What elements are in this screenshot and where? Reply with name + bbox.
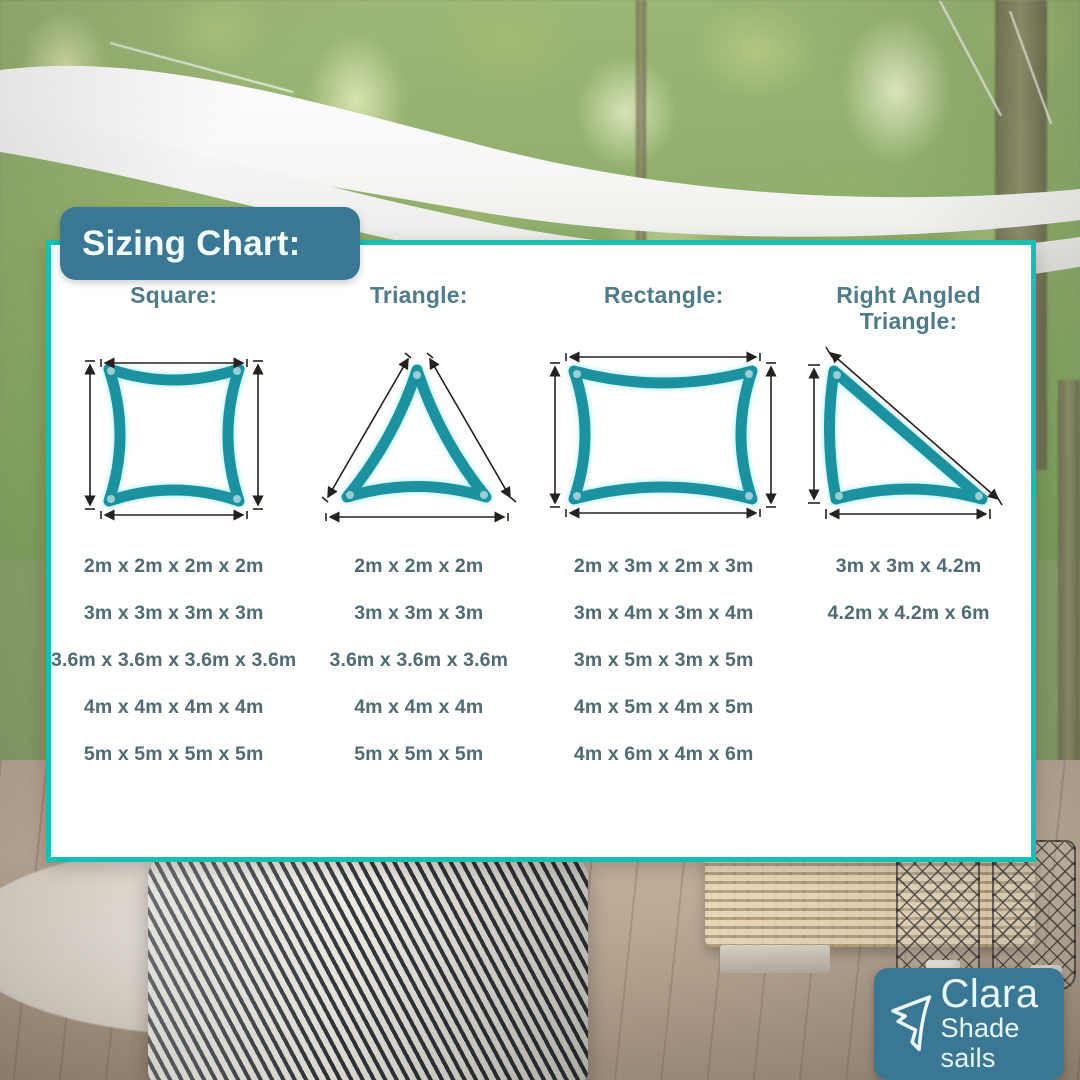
column-right-angled-triangle: Right Angled Triangle: [786, 283, 1031, 853]
size-item: 3m x 5m x 3m x 5m [574, 637, 753, 684]
size-item: 4.2m x 4.2m x 6m [828, 590, 990, 637]
size-item: 5m x 5m x 5m x 5m [84, 731, 263, 778]
triangle-sail-diagram [314, 345, 524, 525]
screenshot-root: Square: [0, 0, 1080, 1080]
sail-icon [886, 987, 937, 1061]
chart-columns: Square: [51, 283, 1031, 853]
size-item: 4m x 5m x 4m x 5m [574, 684, 753, 731]
column-rectangle: Rectangle: [541, 283, 786, 853]
size-item: 2m x 2m x 2m [354, 543, 483, 590]
column-heading-square: Square: [130, 283, 217, 341]
size-item: 3m x 3m x 3m x 3m [84, 590, 263, 637]
size-item: 3.6m x 3.6m x 3.6m [330, 637, 509, 684]
size-item: 2m x 2m x 2m x 2m [84, 543, 263, 590]
size-list-triangle: 2m x 2m x 2m 3m x 3m x 3m 3.6m x 3.6m x … [330, 543, 509, 778]
logo-line-1: Clara [941, 975, 1064, 1013]
page-title-badge: Sizing Chart: [60, 207, 360, 280]
page-title: Sizing Chart: [82, 224, 300, 264]
column-heading-rectangle: Rectangle: [604, 283, 724, 341]
size-list-right-angled-triangle: 3m x 3m x 4.2m 4.2m x 4.2m x 6m [828, 543, 990, 637]
size-item: 4m x 4m x 4m x 4m [84, 684, 263, 731]
size-item: 3m x 3m x 3m [354, 590, 483, 637]
size-item: 3m x 4m x 3m x 4m [574, 590, 753, 637]
column-triangle: Triangle: [296, 283, 541, 853]
logo-line-2: Shade sails [941, 1013, 1064, 1073]
brand-logo[interactable]: Clara Shade sails [874, 968, 1064, 1080]
rectangle-sail-diagram [546, 345, 781, 525]
size-item: 5m x 5m x 5m [354, 731, 483, 778]
column-heading-right-angled-triangle: Right Angled Triangle: [786, 283, 1031, 341]
right-angled-triangle-sail-diagram [804, 345, 1014, 525]
size-item: 4m x 6m x 4m x 6m [574, 731, 753, 778]
logo-text: Clara Shade sails [941, 975, 1064, 1073]
square-sail-diagram [79, 345, 269, 525]
sizing-chart-card: Square: [46, 240, 1036, 862]
size-item: 3.6m x 3.6m x 3.6m x 3.6m [51, 637, 296, 684]
size-list-rectangle: 2m x 3m x 2m x 3m 3m x 4m x 3m x 4m 3m x… [574, 543, 753, 778]
column-heading-triangle: Triangle: [370, 283, 468, 341]
size-item: 4m x 4m x 4m [354, 684, 483, 731]
size-list-square: 2m x 2m x 2m x 2m 3m x 3m x 3m x 3m 3.6m… [51, 543, 296, 778]
size-item: 2m x 3m x 2m x 3m [574, 543, 753, 590]
size-item: 3m x 3m x 4.2m [836, 543, 982, 590]
column-square: Square: [51, 283, 296, 853]
